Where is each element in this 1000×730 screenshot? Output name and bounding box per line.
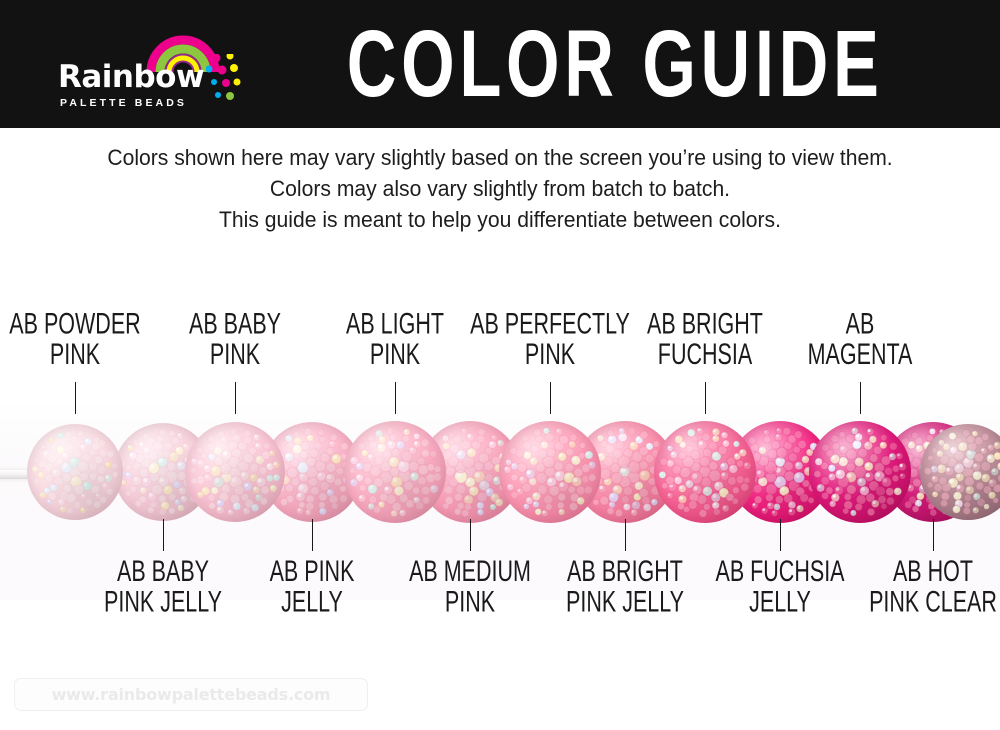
bead-swatch xyxy=(499,421,601,523)
bead-edge-shadow xyxy=(27,424,123,520)
leader-line-ab-bright-pink-jelly xyxy=(625,519,626,551)
leader-line-ab-baby-pink xyxy=(235,382,236,414)
leader-line-ab-perfectly-pink xyxy=(550,382,551,414)
page-title: COLOR GUIDE xyxy=(347,10,793,118)
watermark: www.rainbowpalettebeads.com xyxy=(14,678,368,711)
label-line-1: AB HOT xyxy=(795,556,1000,587)
bead-swatch xyxy=(809,421,911,523)
leader-line-ab-magenta xyxy=(860,382,861,414)
leader-line-ab-light-pink xyxy=(395,382,396,414)
bead-edge-shadow xyxy=(344,421,446,523)
leader-line-ab-bright-fuchsia xyxy=(705,382,706,414)
brand-logo: Rainbow PALETTE BEADS xyxy=(58,32,248,104)
label-ab-magenta: ABMAGENTA xyxy=(722,309,997,370)
label-ab-hot-pink-clear: AB HOTPINK CLEAR xyxy=(795,556,1000,617)
disclaimer-text: Colors shown here may vary slightly base… xyxy=(20,142,980,235)
disclaimer-line-2: Colors may also vary slightly from batch… xyxy=(20,173,980,204)
bead-edge-shadow xyxy=(809,421,911,523)
label-line-1: AB xyxy=(722,309,997,340)
watermark-text: www.rainbowpalettebeads.com xyxy=(15,679,367,710)
bead-dots-icon xyxy=(206,54,252,106)
bead-edge-shadow xyxy=(499,421,601,523)
bead-edge-shadow xyxy=(654,421,756,523)
leader-line-ab-hot-pink-clear xyxy=(933,519,934,551)
bead-swatch xyxy=(344,421,446,523)
page-header: Rainbow PALETTE BEADS COLOR GUIDE xyxy=(0,0,1000,128)
logo-wordmark: Rainbow xyxy=(58,62,204,93)
bead-swatch xyxy=(654,421,756,523)
leader-line-ab-baby-pink-jelly xyxy=(163,519,164,551)
bead-edge-shadow xyxy=(185,422,285,522)
leader-line-ab-medium-pink xyxy=(470,519,471,551)
disclaimer-line-1: Colors shown here may vary slightly base… xyxy=(20,142,980,173)
leader-line-ab-fuchsia-jelly xyxy=(780,519,781,551)
logo-tagline: PALETTE BEADS xyxy=(60,98,187,109)
leader-line-ab-pink-jelly xyxy=(312,519,313,551)
label-line-2: PINK CLEAR xyxy=(795,587,1000,618)
label-line-2: MAGENTA xyxy=(722,339,997,370)
bead-swatch xyxy=(185,422,285,522)
bead-strand xyxy=(0,412,1000,530)
leader-line-ab-powder-pink xyxy=(75,382,76,414)
bead-swatch xyxy=(27,424,123,520)
color-guide-page: Rainbow PALETTE BEADS COLOR GUIDE Colors… xyxy=(0,0,1000,730)
disclaimer-line-3: This guide is meant to help you differen… xyxy=(20,204,980,235)
